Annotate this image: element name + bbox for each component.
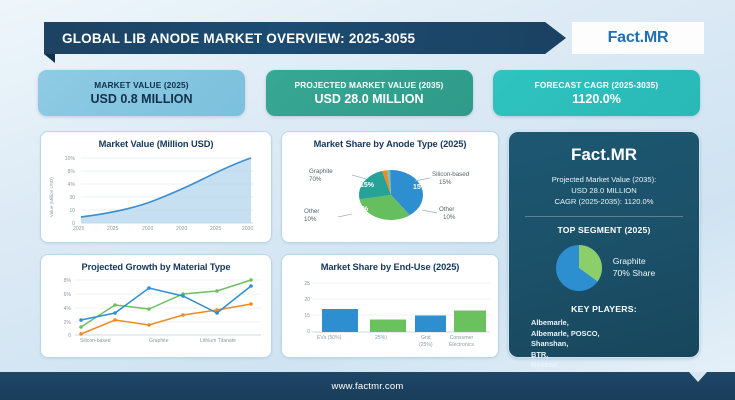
sidebar-segment-legend: Graphite 70% Share <box>613 256 656 279</box>
chart-area-end-use: 25 20 15 0 EVs (50%) 25%) Grid (25%) Con… <box>282 272 498 352</box>
chart-title: Market Share by End-Use (2025) <box>282 262 498 272</box>
x-tick: Lithium Titanate <box>200 338 236 344</box>
x-tick: Consumer Electronics <box>449 335 474 348</box>
x-tick: EVs (50%) <box>317 335 341 341</box>
page-header: GLOBAL LIB ANODE MARKET OVERVIEW: 2025-3… <box>0 0 735 68</box>
sidebar-projected-value: USD 28.0 MILLION <box>519 185 689 196</box>
stat-value: 1120.0% <box>572 92 621 106</box>
x-tick: 2025 <box>73 226 84 232</box>
x-tick: 2020 <box>142 226 153 232</box>
market-value-plot <box>41 149 273 237</box>
pie-callout-value: 15% <box>432 179 469 187</box>
pie-callout-name: Other <box>439 206 455 214</box>
pie-callout-value: 70% <box>309 176 333 184</box>
summary-sidebar: Fact.MR Projected Market Value (2035): U… <box>508 131 700 358</box>
stat-label: PROJECTED MARKET VALUE (2035) <box>295 80 444 90</box>
chart-area-projected-growth: 8% 6% 4% 2% 0 <box>41 272 271 352</box>
banner-tail-decoration <box>44 54 55 63</box>
stat-label: MARKET VALUE (2025) <box>94 80 188 90</box>
chart-area-anode-pie: 15% 10% 15% Graphite 70% Silicon-based 1… <box>282 149 498 237</box>
stat-card-market-value: MARKET VALUE (2025) USD 0.8 MILLION <box>38 70 245 116</box>
pie-callout-name: Other <box>304 208 319 216</box>
stat-card-forecast-cagr: FORECAST CAGR (2025-3035) 1120.0% <box>493 70 700 116</box>
stat-value: USD 0.8 MILLION <box>90 92 192 106</box>
x-tick: 25%) <box>375 335 387 341</box>
pie-slice-label-green: 10% <box>354 206 368 213</box>
pie-callout-other-left: Other 10% <box>304 208 319 224</box>
pie-callout-name: Silicon-based <box>432 171 469 179</box>
chart-panel-anode-type: Market Share by Anode Type (2025) <box>281 131 499 243</box>
x-tick: Silicon-based <box>80 338 111 344</box>
sidebar-segment-name: Graphite <box>613 256 656 268</box>
page-footer: www.factmr.com <box>0 372 735 400</box>
sidebar-logo: Fact.MR <box>519 145 689 165</box>
pie-callout-value: 10% <box>439 214 455 222</box>
pie-callout-name: Graphite <box>309 168 333 176</box>
chart-title: Market Value (Million USD) <box>41 139 271 149</box>
chart-area-market-value: Value (Million USD) 10% 8% 4% 30 10 0 20… <box>41 149 271 237</box>
footer-notch-decoration <box>689 372 707 382</box>
pie-callout-other-right: Other 10% <box>439 206 455 222</box>
chart-panel-projected-growth: Projected Growth by Material Type 8% 6% … <box>40 254 272 358</box>
sidebar-donut-icon <box>553 242 605 294</box>
stat-cards-row: MARKET VALUE (2025) USD 0.8 MILLION PROJ… <box>38 70 700 116</box>
anode-pie-plot <box>282 149 500 237</box>
sidebar-divider <box>525 216 683 217</box>
pie-callout-value: 10% <box>304 216 319 224</box>
sidebar-stats-block: Projected Market Value (2035): USD 28.0 … <box>519 174 689 207</box>
x-tick: Graphite <box>149 338 169 344</box>
sidebar-key-players-title: KEY PLAYERS: <box>519 304 689 314</box>
page-title: GLOBAL LIB ANODE MARKET OVERVIEW: 2025-3… <box>62 31 415 46</box>
chart-title: Market Share by Anode Type (2025) <box>282 139 498 149</box>
stat-value: USD 28.0 MILLION <box>314 92 423 106</box>
sidebar-cagr-line: CAGR (2025-2035): 1120.0% <box>519 196 689 207</box>
pie-slice-label-blue: 15% <box>413 184 427 191</box>
x-tick: 2025 <box>107 226 118 232</box>
footer-url[interactable]: www.factmr.com <box>332 381 404 392</box>
chart-panel-market-value: Market Value (Million USD) Value (Millio… <box>40 131 272 243</box>
x-tick: 2025 <box>210 226 221 232</box>
x-tick: 2020 <box>176 226 187 232</box>
x-tick: Grid (25%) <box>419 335 433 348</box>
x-tick: 2030 <box>242 226 253 232</box>
title-banner: GLOBAL LIB ANODE MARKET OVERVIEW: 2025-3… <box>44 22 566 54</box>
sidebar-segment-row: Graphite 70% Share <box>519 242 689 294</box>
pie-callout-silicon: Silicon-based 15% <box>432 171 469 187</box>
stat-card-projected-value: PROJECTED MARKET VALUE (2035) USD 28.0 M… <box>266 70 473 116</box>
sidebar-key-players-list: Albemarle, Albemarle, POSCO, Shanshan, B… <box>519 318 689 371</box>
pie-slice-label-teal: 15% <box>360 182 374 189</box>
chart-title: Projected Growth by Material Type <box>41 262 271 272</box>
brand-logo-text: Fact.MR <box>608 29 669 47</box>
sidebar-projected-label: Projected Market Value (2035): <box>519 174 689 185</box>
brand-logo-box: Fact.MR <box>572 22 704 54</box>
sidebar-segment-title: TOP SEGMENT (2025) <box>519 225 689 235</box>
stat-label: FORECAST CAGR (2025-3035) <box>535 80 659 90</box>
sidebar-segment-share: 70% Share <box>613 268 656 280</box>
pie-callout-graphite: Graphite 70% <box>309 168 333 184</box>
chart-panel-end-use: Market Share by End-Use (2025) 25 20 15 … <box>281 254 499 358</box>
